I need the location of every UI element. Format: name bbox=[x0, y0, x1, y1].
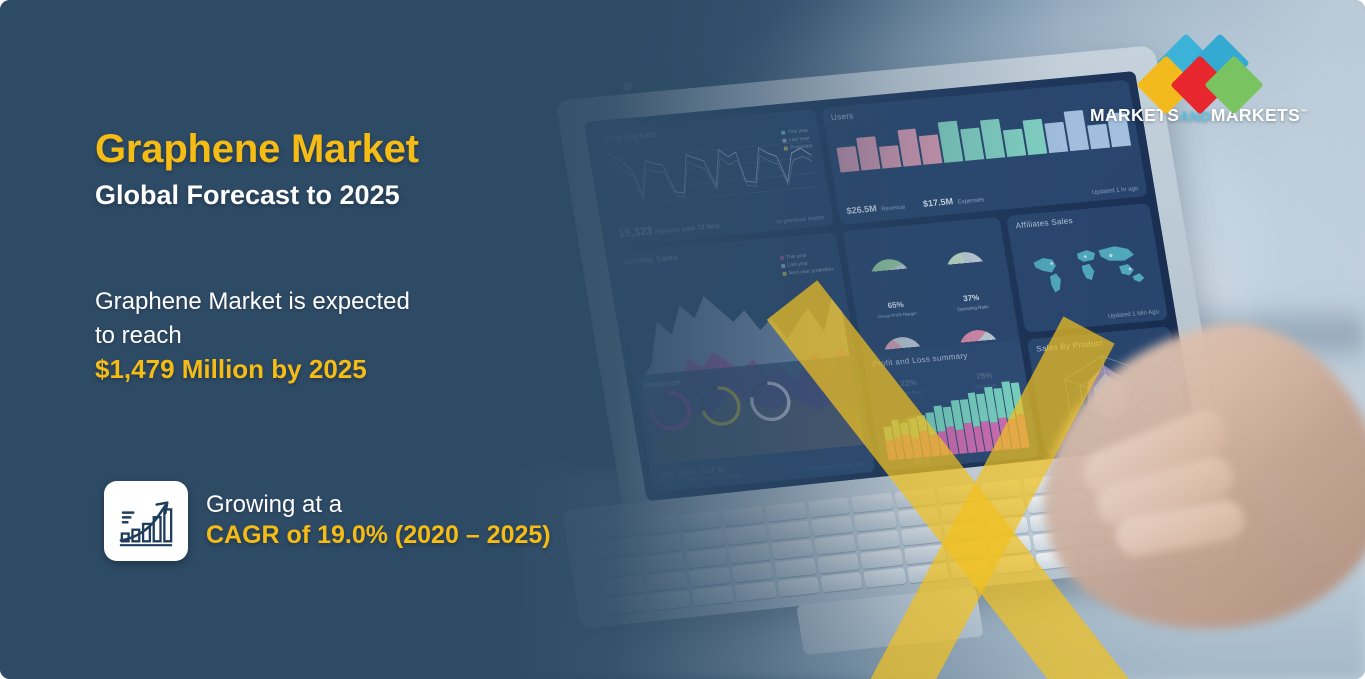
logo-diamonds bbox=[1123, 40, 1273, 102]
value-statement: Graphene Market is expected to reach $1,… bbox=[95, 285, 695, 387]
cagr-line2: CAGR of 19.0% (2020 – 2025) bbox=[206, 520, 551, 551]
logo-text-part2: MARKETS bbox=[1211, 105, 1300, 125]
headline-block: Graphene Market Global Forecast to 2025 … bbox=[95, 128, 695, 387]
marketing-banner: Daily Signups This year Last year Projec… bbox=[0, 0, 1365, 679]
value-highlight: $1,479 Million by 2025 bbox=[95, 353, 695, 387]
growth-chart-icon bbox=[104, 481, 188, 561]
value-statement-line2: to reach bbox=[95, 322, 182, 349]
page-subtitle: Global Forecast to 2025 bbox=[95, 180, 695, 211]
cagr-line1: Growing at a bbox=[206, 490, 551, 520]
cagr-text: Growing at a CAGR of 19.0% (2020 – 2025) bbox=[206, 490, 551, 551]
trademark-symbol: ™ bbox=[1300, 109, 1307, 116]
cagr-block: Growing at a CAGR of 19.0% (2020 – 2025) bbox=[104, 481, 551, 561]
value-statement-line1: Graphene Market is expected bbox=[95, 288, 410, 315]
brand-logo[interactable]: MARKETSANDMARKETS™ bbox=[1090, 40, 1305, 126]
page-title: Graphene Market bbox=[95, 128, 695, 170]
